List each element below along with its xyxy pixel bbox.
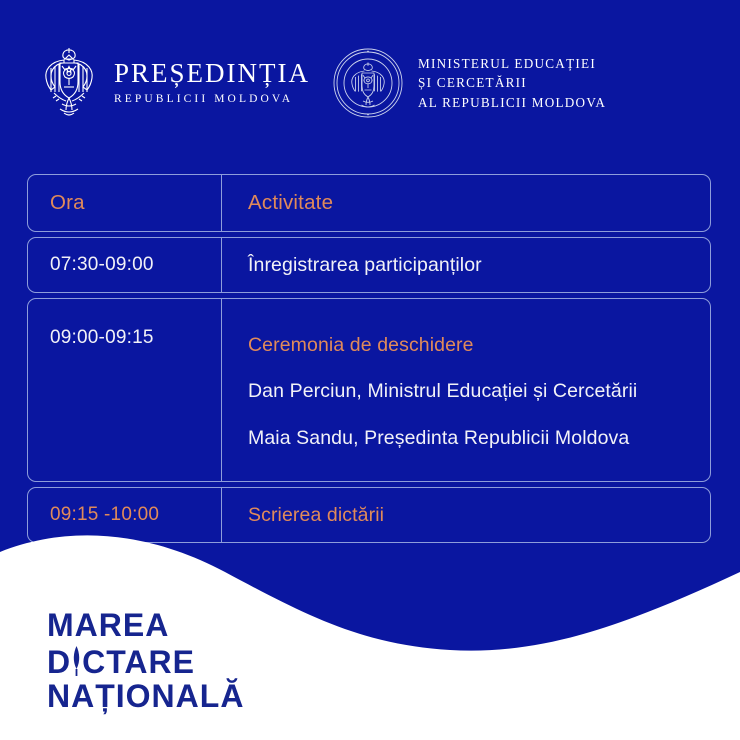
poster-canvas: PREȘEDINȚIA REPUBLICII MOLDOVA: [0, 0, 740, 740]
brand-line-1: MAREA: [47, 608, 244, 643]
ministry-logo: MINISTERUL EDUCAȚIEI ȘI CERCETĂRII AL RE…: [332, 47, 606, 119]
row-activity-title: Ceremonia de deschidere: [248, 336, 710, 356]
presidency-text: PREȘEDINȚIA REPUBLICII MOLDOVA: [114, 60, 310, 106]
table-header-row: Ora Activitate: [27, 174, 711, 232]
row-cell-time: 07:30-09:00: [28, 238, 221, 292]
row-activity-title: Înregistrarea participanților: [248, 254, 710, 277]
presidency-title: PREȘEDINȚIA: [114, 60, 310, 87]
column-divider: [221, 299, 222, 481]
table-row: 09:00-09:15 Ceremonia de deschidere Dan …: [27, 298, 711, 482]
row-cell-activity: Ceremonia de deschidere Dan Perciun, Min…: [221, 299, 710, 481]
header-cell-time: Ora: [28, 175, 221, 231]
row-time-value: 09:00-09:15: [50, 327, 154, 349]
brand-line-2-suffix: CTARE: [82, 645, 195, 680]
column-divider: [221, 175, 222, 231]
ministry-line-2: ȘI CERCETĂRII: [418, 73, 606, 93]
column-divider: [221, 238, 222, 292]
schedule-table: Ora Activitate 07:30-09:00 Înregistrarea…: [27, 174, 711, 548]
presidency-logo: PREȘEDINȚIA REPUBLICII MOLDOVA: [38, 46, 310, 120]
brand-line-3: NAȚIONALĂ: [47, 679, 244, 714]
column-header-ora: Ora: [50, 191, 85, 215]
brand-lockup: MAREA D CTARE NAȚIONALĂ: [47, 608, 244, 714]
pen-nib-icon: [72, 646, 81, 676]
brand-line-2: D CTARE: [47, 643, 244, 680]
ministry-seal-icon: [332, 47, 404, 119]
ministry-line-1: MINISTERUL EDUCAȚIEI: [418, 54, 606, 74]
row-time-value: 07:30-09:00: [50, 254, 154, 276]
row-cell-activity: Înregistrarea participanților: [221, 238, 710, 292]
ministry-text: MINISTERUL EDUCAȚIEI ȘI CERCETĂRII AL RE…: [418, 54, 606, 113]
header-cell-activity: Activitate: [221, 175, 710, 231]
row-activity-detail: Dan Perciun, Ministrul Educației și Cerc…: [248, 382, 710, 402]
moldova-coat-of-arms-icon: [38, 46, 100, 120]
column-header-activitate: Activitate: [248, 191, 710, 215]
row-cell-time: 09:00-09:15: [28, 299, 221, 481]
header-logos: PREȘEDINȚIA REPUBLICII MOLDOVA: [38, 46, 606, 120]
row-activity-detail: Maia Sandu, Președinta Republicii Moldov…: [248, 429, 710, 449]
brand-line-2-prefix: D: [47, 645, 71, 680]
presidency-subtitle: REPUBLICII MOLDOVA: [114, 94, 310, 106]
ministry-line-3: AL REPUBLICII MOLDOVA: [418, 93, 606, 113]
table-row: 07:30-09:00 Înregistrarea participanțilo…: [27, 237, 711, 293]
